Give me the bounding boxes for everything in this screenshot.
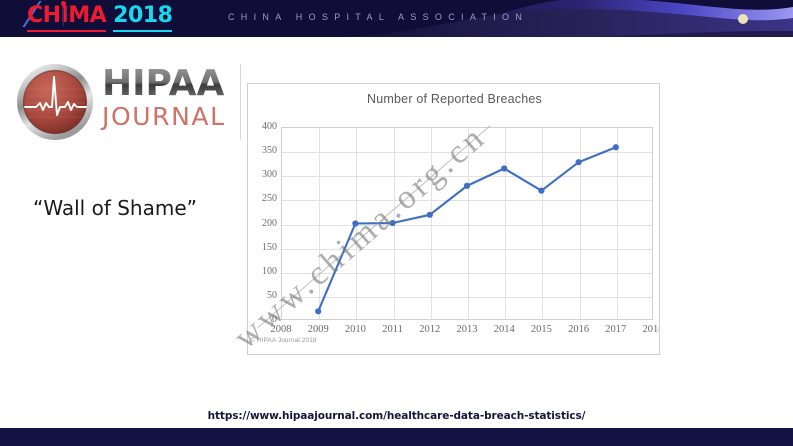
- chart-x-axis: 2008200920102011201220132014201520162017…: [281, 324, 653, 340]
- series-line: [318, 147, 616, 311]
- chima-i-dot-icon: [61, 1, 66, 6]
- x-tick-label: 2018: [643, 324, 661, 335]
- chima-year: 2018: [113, 5, 172, 32]
- x-tick-label: 2014: [494, 324, 515, 335]
- y-tick-label: 400: [262, 121, 277, 132]
- source-url-link[interactable]: https://www.hipaajournal.com/healthcare-…: [0, 410, 793, 422]
- data-point-marker[interactable]: 2011: 201: [390, 220, 396, 226]
- hipaa-journal-logo: HIPAA JOURNAL: [16, 63, 248, 143]
- slide-header: CHIMA 2018 CHINA HOSPITAL ASSOCIATION: [0, 0, 793, 37]
- logo-divider: [240, 64, 241, 140]
- data-point-marker[interactable]: 2017: 358: [613, 144, 619, 150]
- x-tick-label: 2016: [568, 324, 589, 335]
- header-circle-decoration: [738, 14, 748, 24]
- chart-credit: © HIPAA Journal 2018: [250, 337, 317, 344]
- header-subtitle: CHINA HOSPITAL ASSOCIATION: [228, 12, 528, 22]
- data-point-marker[interactable]: 2012: 218: [427, 212, 433, 218]
- x-tick-label: 2012: [419, 324, 440, 335]
- data-point-marker[interactable]: 2013: 278: [464, 183, 470, 189]
- x-tick-label: 2010: [345, 324, 366, 335]
- y-tick-label: 350: [262, 145, 277, 156]
- chima-wordmark: CHIMA: [27, 5, 106, 32]
- hipaa-wordmark-top: HIPAA: [102, 65, 252, 103]
- chart-y-axis: 050100150200250300350400: [248, 127, 277, 320]
- slide-canvas: CHIMA 2018 CHINA HOSPITAL ASSOCIATION: [0, 0, 793, 446]
- data-point-marker[interactable]: 2009: 18: [315, 308, 321, 314]
- chima-logo[interactable]: CHIMA 2018: [27, 5, 172, 32]
- chima-wordmark-text: CHIMA: [27, 3, 106, 28]
- y-tick-label: 50: [267, 290, 277, 301]
- y-tick-label: 200: [262, 218, 277, 229]
- data-point-marker[interactable]: 2015: 268: [538, 188, 544, 194]
- x-tick-label: 2009: [308, 324, 329, 335]
- x-tick-label: 2008: [271, 324, 292, 335]
- hipaa-wordmark: HIPAA JOURNAL: [102, 65, 252, 131]
- data-point-marker[interactable]: 2016: 327: [576, 159, 582, 165]
- y-tick-label: 250: [262, 193, 277, 204]
- chart-series-layer: 2009: 182010: 2002011: 2012012: 2182013:…: [281, 127, 653, 320]
- x-tick-label: 2011: [382, 324, 403, 335]
- wall-of-shame-caption: “Wall of Shame”: [33, 196, 197, 220]
- slide-footer-bar: [0, 428, 793, 446]
- chima-i-stem-icon: [63, 8, 64, 26]
- breaches-line-chart: Number of Reported Breaches 050100150200…: [247, 83, 660, 355]
- data-point-marker[interactable]: 2014: 314: [501, 165, 507, 171]
- ekg-heartbeat-circle-icon: [16, 63, 94, 141]
- y-tick-label: 100: [262, 266, 277, 277]
- x-tick-label: 2013: [457, 324, 478, 335]
- hipaa-wordmark-bottom: JOURNAL: [102, 103, 252, 131]
- y-tick-label: 150: [262, 242, 277, 253]
- y-tick-label: 300: [262, 169, 277, 180]
- data-point-marker[interactable]: 2010: 200: [352, 220, 358, 226]
- chart-title: Number of Reported Breaches: [248, 92, 660, 106]
- x-tick-label: 2015: [531, 324, 552, 335]
- x-tick-label: 2017: [605, 324, 626, 335]
